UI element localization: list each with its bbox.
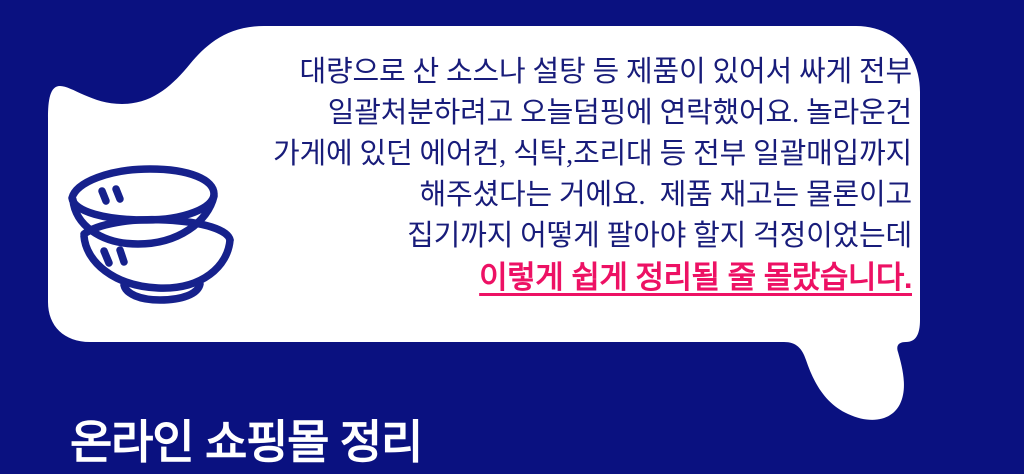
lower-bowl-tick-2 bbox=[120, 250, 124, 262]
upper-bowl-tick-2 bbox=[116, 189, 120, 199]
upper-bowl-rim bbox=[72, 169, 214, 220]
page-title: 온라인 쇼핑몰 정리 bbox=[70, 406, 422, 472]
testimonial-text: 대량으로 산 소스나 설탕 등 제품이 있어서 싸게 전부 일괄처분하려고 오늘… bbox=[200, 52, 912, 298]
testimonial-line-4: 해주셨다는 거에요. 제품 재고는 물론이고 bbox=[200, 175, 912, 216]
promo-banner: 대량으로 산 소스나 설탕 등 제품이 있어서 싸게 전부 일괄처분하려고 오늘… bbox=[0, 0, 1024, 474]
testimonial-line-2: 일괄처분하려고 오늘덤핑에 연락했어요. 놀라운건 bbox=[200, 93, 912, 134]
testimonial-line-1: 대량으로 산 소스나 설탕 등 제품이 있어서 싸게 전부 bbox=[200, 52, 912, 93]
testimonial-highlight-line: 이렇게 쉽게 정리될 줄 몰랐습니다. bbox=[200, 257, 912, 298]
testimonial-line-3: 가게에 있던 에어컨, 식탁,조리대 등 전부 일괄매입까지 bbox=[200, 134, 912, 175]
lower-bowl-tick-1 bbox=[104, 251, 109, 263]
testimonial-line-5: 집기까지 어떻게 팔아야 할지 걱정이었는데 bbox=[200, 216, 912, 257]
upper-bowl-tick-1 bbox=[102, 191, 106, 201]
